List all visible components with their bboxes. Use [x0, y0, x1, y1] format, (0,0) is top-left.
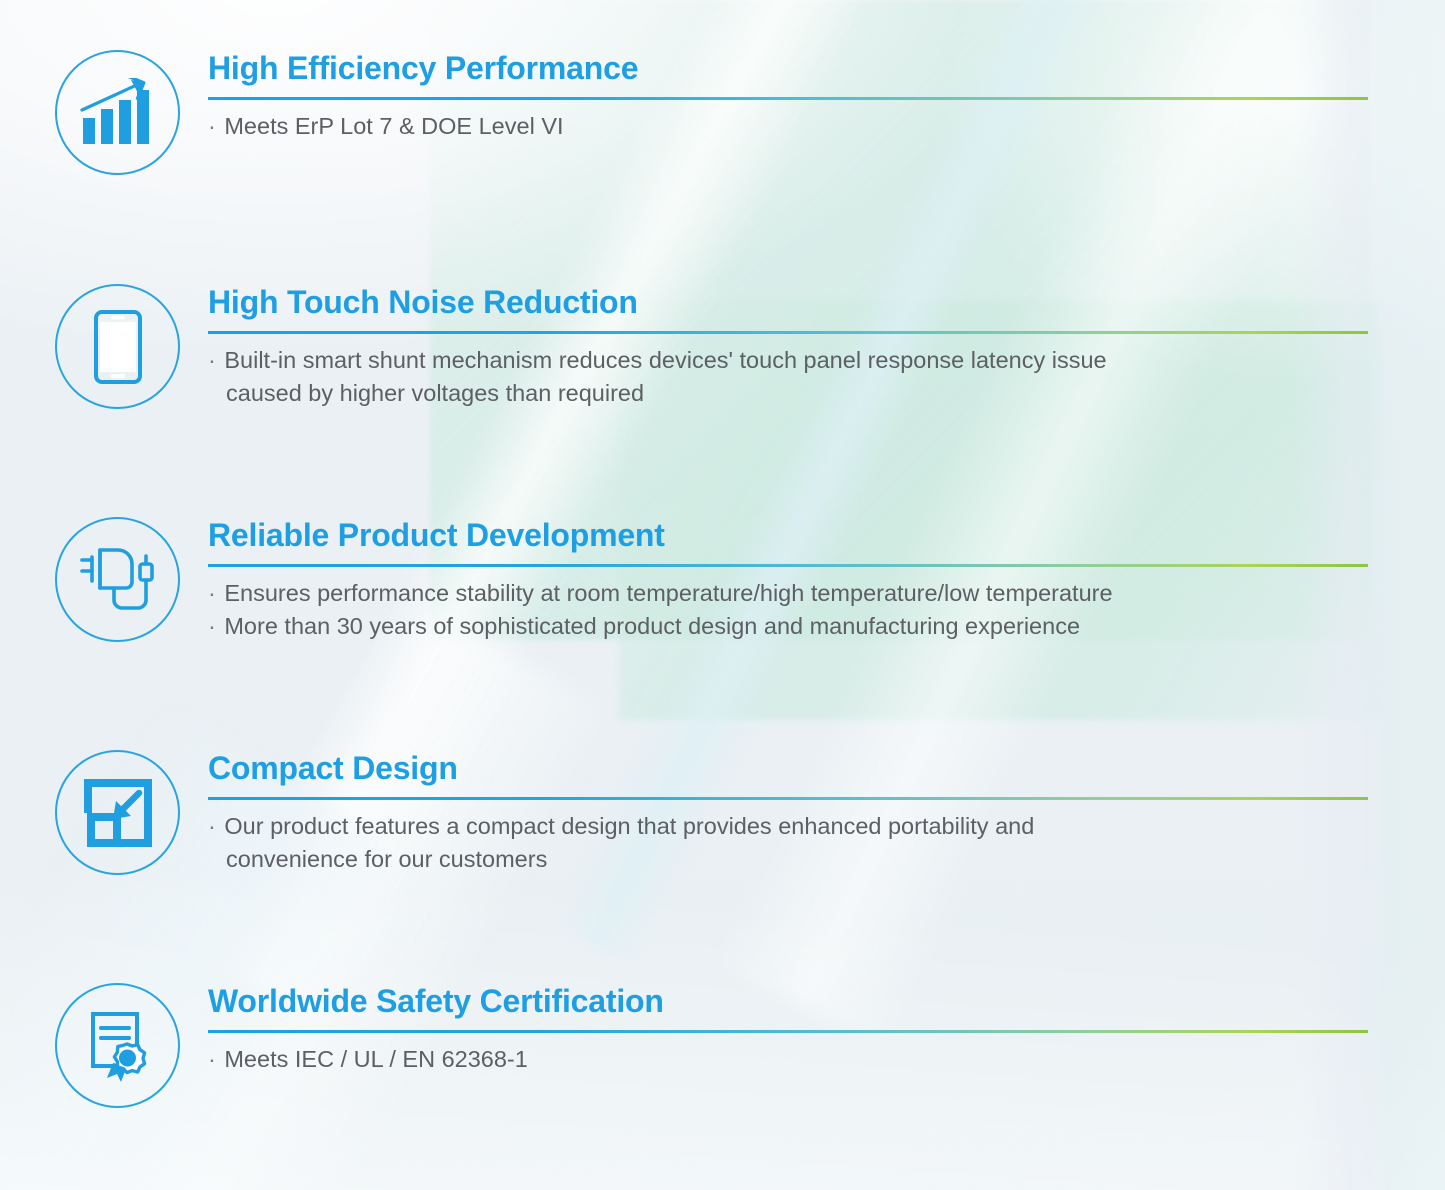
feature-divider	[208, 97, 1368, 100]
feature-title: Compact Design	[208, 752, 1368, 784]
bullet-marker: ·	[208, 813, 216, 839]
feature-bullets: · Ensures performance stability at room …	[208, 577, 1368, 644]
bullet-item: · Meets ErP Lot 7 & DOE Level VI	[208, 110, 1368, 143]
bullet-text-continuation: caused by higher voltages than required	[208, 377, 1368, 410]
certificate-seal-icon	[55, 983, 180, 1108]
feature-body: Compact Design · Our product features a …	[208, 752, 1368, 876]
bullet-item: · Meets IEC / UL / EN 62368-1	[208, 1043, 1368, 1076]
smartphone-icon	[55, 284, 180, 409]
bullet-text: Our product features a compact design th…	[224, 813, 1034, 839]
bullet-text-continuation: convenience for our customers	[208, 843, 1368, 876]
feature-list-page: High Efficiency Performance · Meets ErP …	[0, 0, 1445, 1190]
bullet-marker: ·	[208, 1046, 216, 1072]
bar-chart-growth-icon	[55, 50, 180, 175]
compact-resize-icon	[55, 750, 180, 875]
bullet-text: Meets ErP Lot 7 & DOE Level VI	[224, 113, 563, 139]
bullet-text: More than 30 years of sophisticated prod…	[224, 613, 1080, 639]
bullet-marker: ·	[208, 580, 216, 606]
feature-title: High Touch Noise Reduction	[208, 286, 1368, 318]
bullet-item: · Our product features a compact design …	[208, 810, 1368, 877]
bullet-marker: ·	[208, 347, 216, 373]
feature-body: Worldwide Safety Certification · Meets I…	[208, 985, 1368, 1076]
feature-bullets: · Our product features a compact design …	[208, 810, 1368, 877]
feature-bullets: · Meets IEC / UL / EN 62368-1	[208, 1043, 1368, 1076]
feature-bullets: · Built-in smart shunt mechanism reduces…	[208, 344, 1368, 411]
feature-divider	[208, 564, 1368, 567]
feature-bullets: · Meets ErP Lot 7 & DOE Level VI	[208, 110, 1368, 143]
feature-title: Worldwide Safety Certification	[208, 985, 1368, 1017]
feature-divider	[208, 331, 1368, 334]
bullet-marker: ·	[208, 613, 216, 639]
feature-list: High Efficiency Performance · Meets ErP …	[0, 0, 1445, 1190]
bullet-marker: ·	[208, 113, 216, 139]
bullet-item: · Ensures performance stability at room …	[208, 577, 1368, 610]
bullet-text: Ensures performance stability at room te…	[224, 580, 1112, 606]
bullet-text: Meets IEC / UL / EN 62368-1	[224, 1046, 527, 1072]
feature-title: Reliable Product Development	[208, 519, 1368, 551]
feature-body: Reliable Product Development · Ensures p…	[208, 519, 1368, 643]
feature-body: High Touch Noise Reduction · Built-in sm…	[208, 286, 1368, 410]
feature-title: High Efficiency Performance	[208, 52, 1368, 84]
feature-divider	[208, 1030, 1368, 1033]
bullet-text: Built-in smart shunt mechanism reduces d…	[224, 347, 1106, 373]
bullet-item: · More than 30 years of sophisticated pr…	[208, 610, 1368, 643]
power-adapter-icon	[55, 517, 180, 642]
feature-body: High Efficiency Performance · Meets ErP …	[208, 52, 1368, 143]
feature-divider	[208, 797, 1368, 800]
bullet-item: · Built-in smart shunt mechanism reduces…	[208, 344, 1368, 411]
